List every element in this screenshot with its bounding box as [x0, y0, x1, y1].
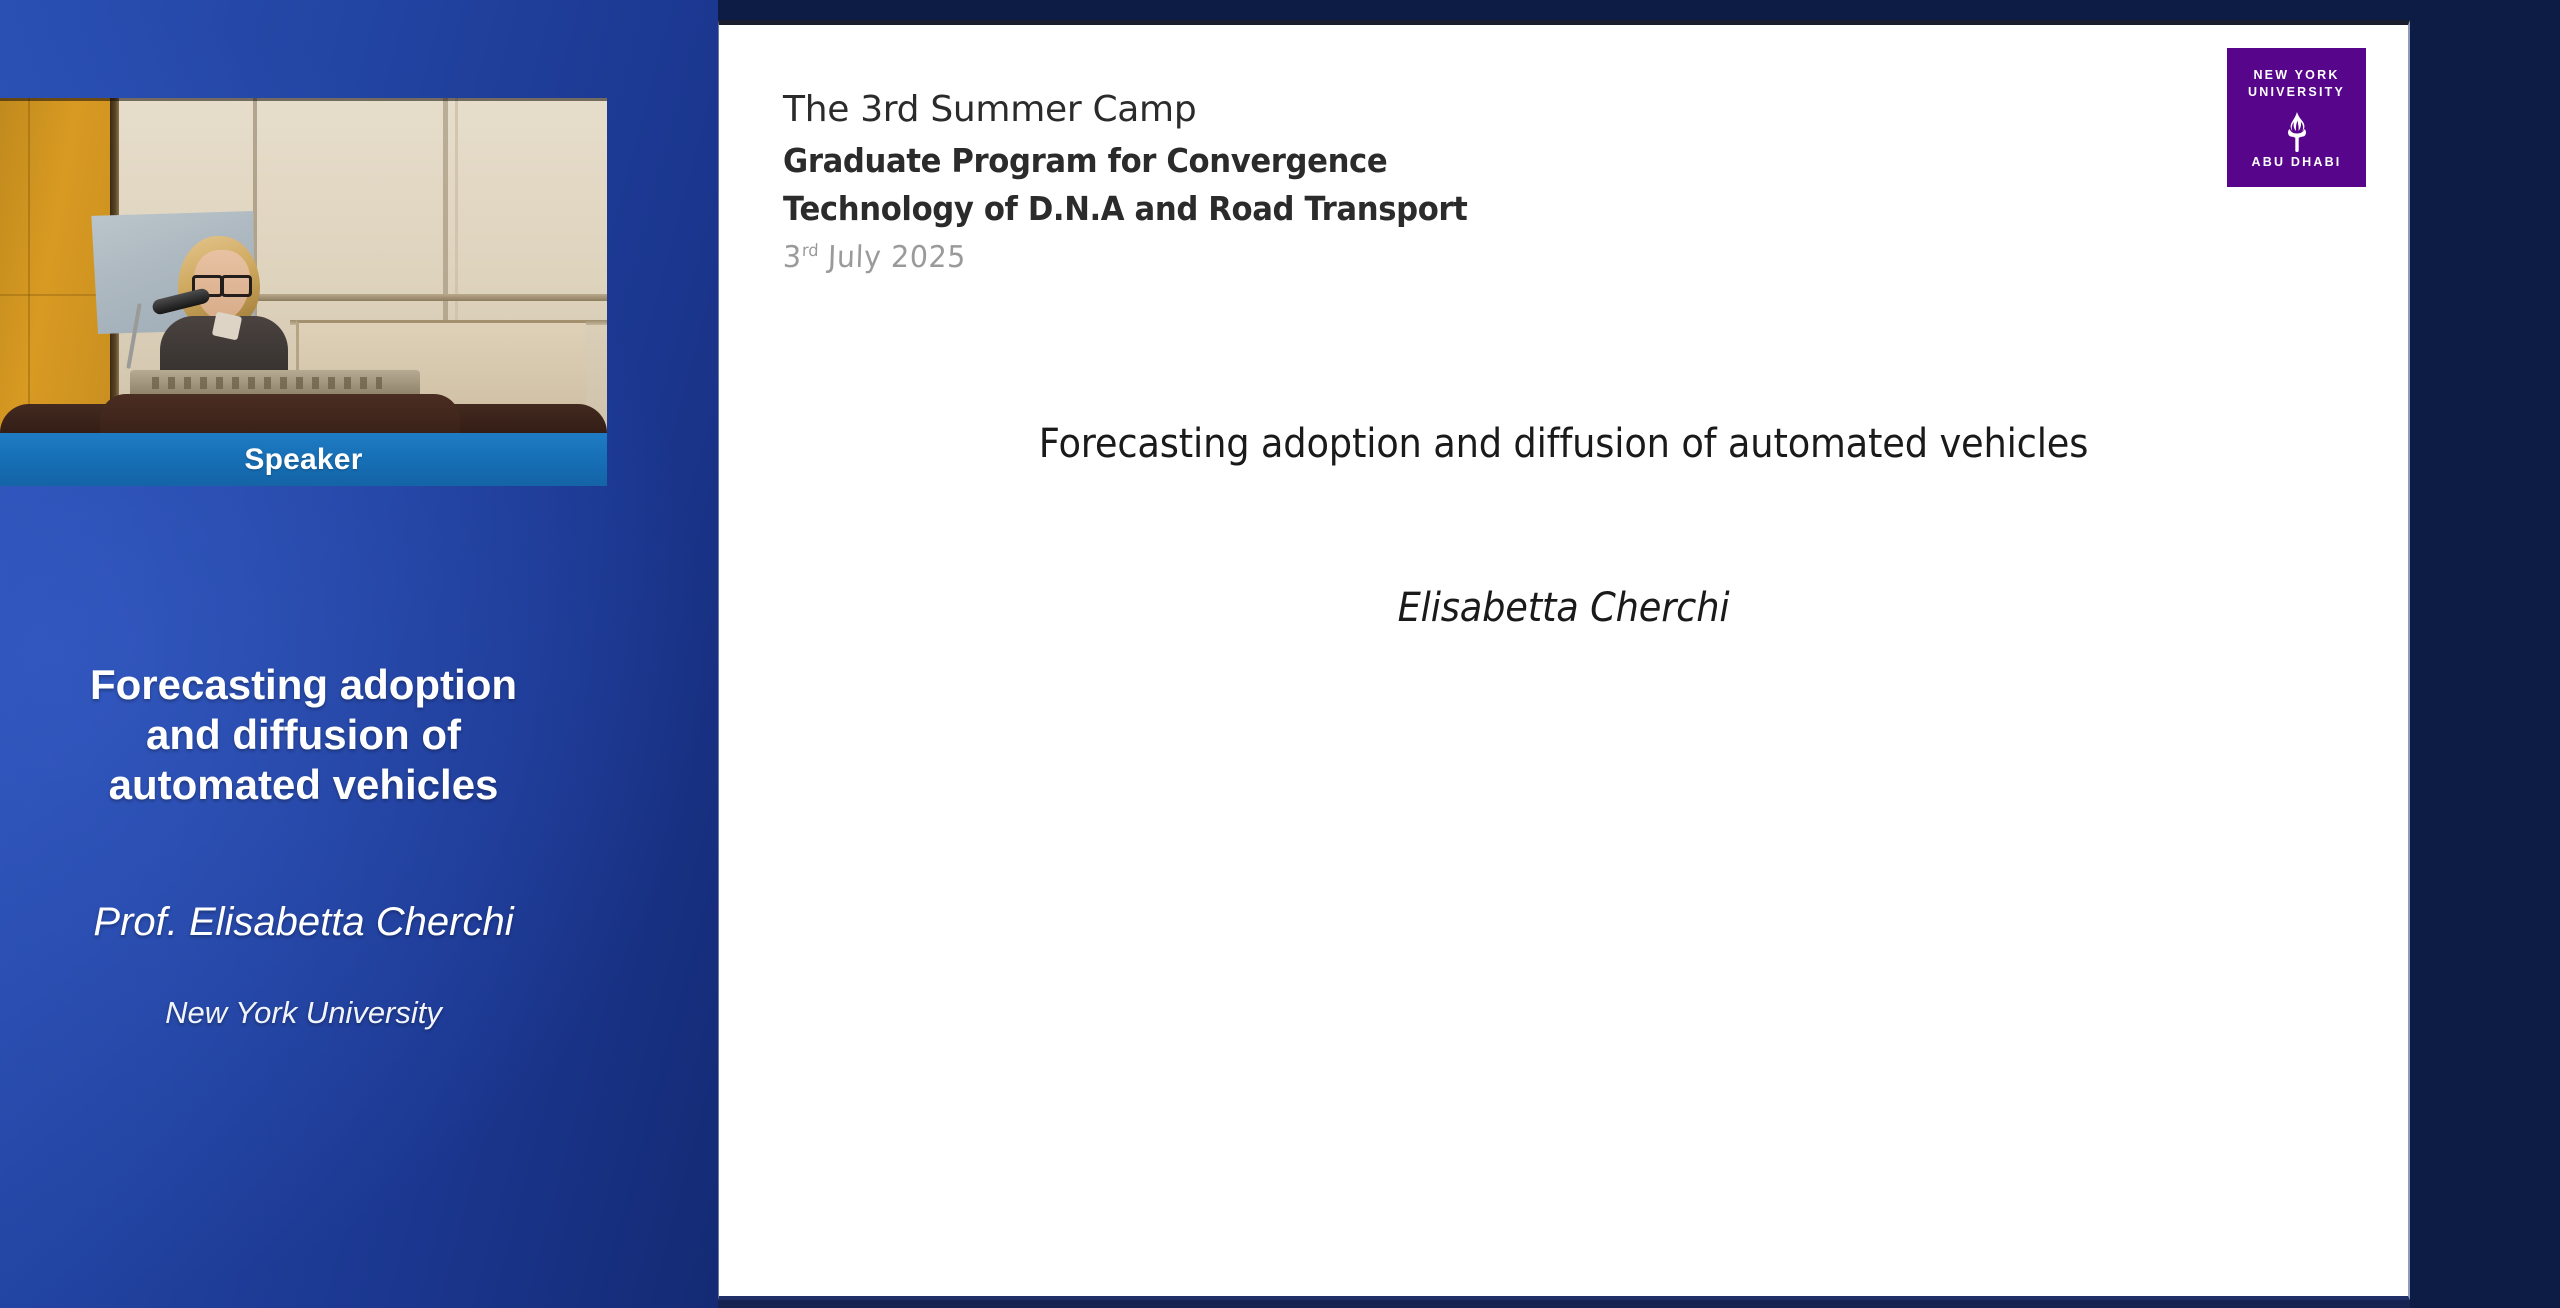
video-amber-seam-horizontal [0, 294, 112, 296]
speaker-collar [212, 312, 242, 341]
sidebar-talk-title: Forecasting adoption and diffusion of au… [0, 660, 607, 810]
nyu-torch-icon [2279, 110, 2315, 154]
podium-nameplate [152, 377, 382, 389]
speaker-role-banner: Speaker [0, 433, 607, 486]
slide-content: The 3rd Summer Camp Graduate Program for… [719, 25, 2408, 1296]
nyu-logo-line1: NEW YORK [2253, 67, 2339, 84]
speaker-video-thumbnail[interactable] [0, 98, 607, 433]
nyu-abu-dhabi-logo: NEW YORK UNIVERSITY ABU DHABI [2227, 48, 2366, 187]
presentation-viewer: Speaker Forecasting adoption and diffusi… [0, 0, 2560, 1308]
sidebar-presenter-affiliation: New York University [0, 995, 607, 1031]
slide-header-line1: The 3rd Summer Camp [783, 92, 1519, 128]
slide-header-line2: Graduate Program for Convergence [783, 144, 1467, 177]
nyu-logo-line2: UNIVERSITY [2248, 84, 2345, 101]
video-amber-seam [28, 98, 30, 433]
slide-header-block: The 3rd Summer Camp Graduate Program for… [783, 92, 1519, 275]
slide-author-name: Elisabetta Cherchi [787, 585, 2341, 631]
sidebar-talk-title-line3: automated vehicles [0, 760, 607, 810]
sidebar-talk-title-line1: Forecasting adoption [0, 660, 607, 710]
slide-date-number: 3 [782, 240, 802, 275]
slide-header-date: 3rd July 2025 [782, 240, 1482, 275]
sidebar-presenter-name: Prof. Elisabetta Cherchi [0, 900, 607, 945]
slide-header-line3: Technology of D.N.A and Road Transport [783, 192, 1467, 225]
podium-front [100, 394, 460, 433]
slide-date-rest: July 2025 [818, 240, 967, 275]
slide-main-title: Forecasting adoption and diffusion of au… [787, 421, 2341, 467]
slide-date-ordinal: rd [802, 241, 819, 261]
slide-panel[interactable]: The 3rd Summer Camp Graduate Program for… [718, 20, 2410, 1300]
video-top-shadow [0, 98, 607, 101]
nyu-logo-line3: ABU DHABI [2227, 155, 2366, 169]
speaker-sidebar: Speaker Forecasting adoption and diffusi… [0, 0, 718, 1308]
sidebar-talk-title-line2: and diffusion of [0, 710, 607, 760]
speaker-role-label: Speaker [244, 443, 362, 477]
video-wall-moulding [257, 294, 607, 301]
slide-bottom-edge [718, 1300, 2410, 1308]
